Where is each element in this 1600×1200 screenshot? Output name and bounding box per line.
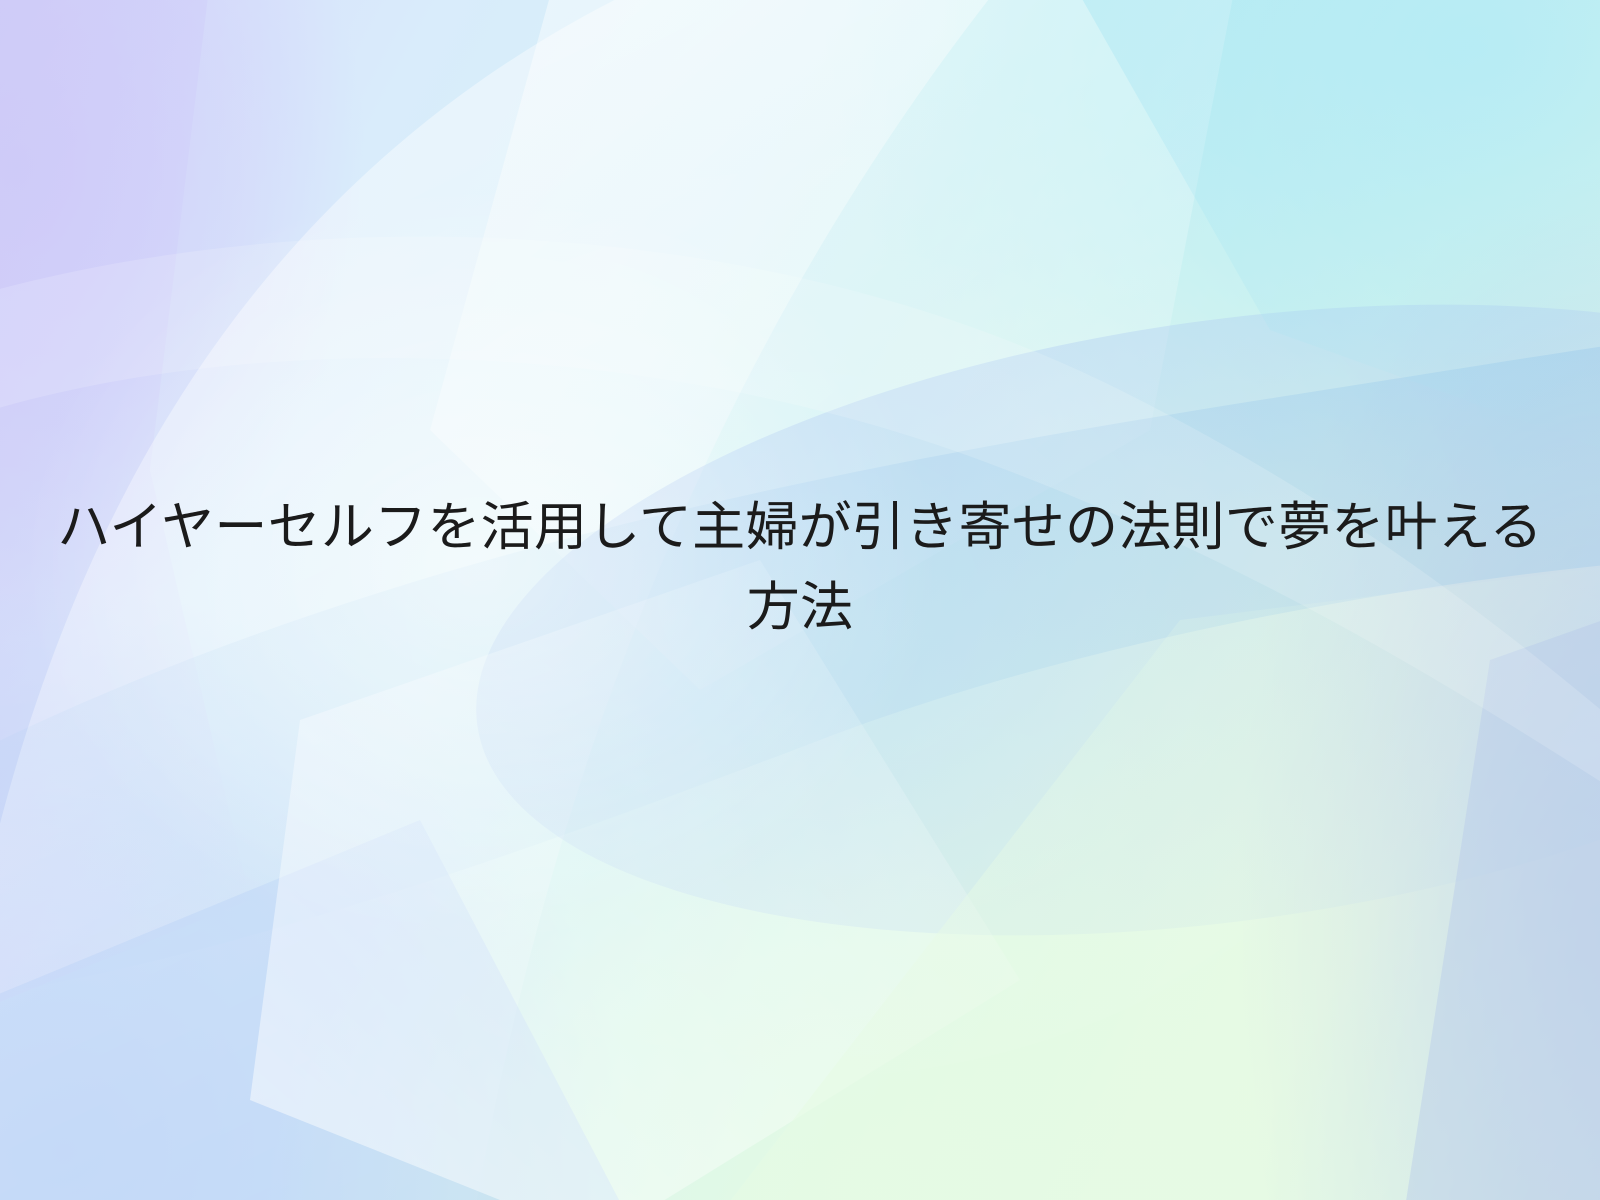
background-cyan-tint [0,0,1600,1200]
background-lavender-tint [0,0,1600,1200]
shape-white-dome [0,0,1020,1200]
shape-white-facet-center [250,560,1020,1200]
shape-white-facet-top [430,0,1240,690]
shape-wave-band [0,338,1600,1000]
shape-blue-lens [436,217,1600,1023]
shape-cyan-facet [1060,0,1600,470]
title-container: ハイヤーセルフを活用して主婦が引き寄せの法則で夢を叶える方法 [0,452,1600,684]
background-soft-light [0,0,1600,1200]
background-right-edge-tint [0,0,1600,1200]
background-abstract-shapes [0,0,1600,1200]
page-title: ハイヤーセルフを活用して主婦が引き寄せの法則で夢を叶える方法 [50,488,1550,649]
shape-periwinkle-polygon [0,820,640,1200]
title-card: ハイヤーセルフを活用して主婦が引き寄せの法則で夢を叶える方法 [0,0,1600,1200]
background-vignette [0,0,1600,1200]
shape-highlight-arc [0,237,1600,820]
shape-lavender-wedge [0,0,250,1010]
background-mint-tint [0,0,1600,1200]
background-periwinkle-tint [0,0,1600,1200]
background-base-gradient [0,0,1600,1200]
shape-right-edge-wedge [1400,600,1600,1200]
shape-mint-facet [700,560,1600,1200]
